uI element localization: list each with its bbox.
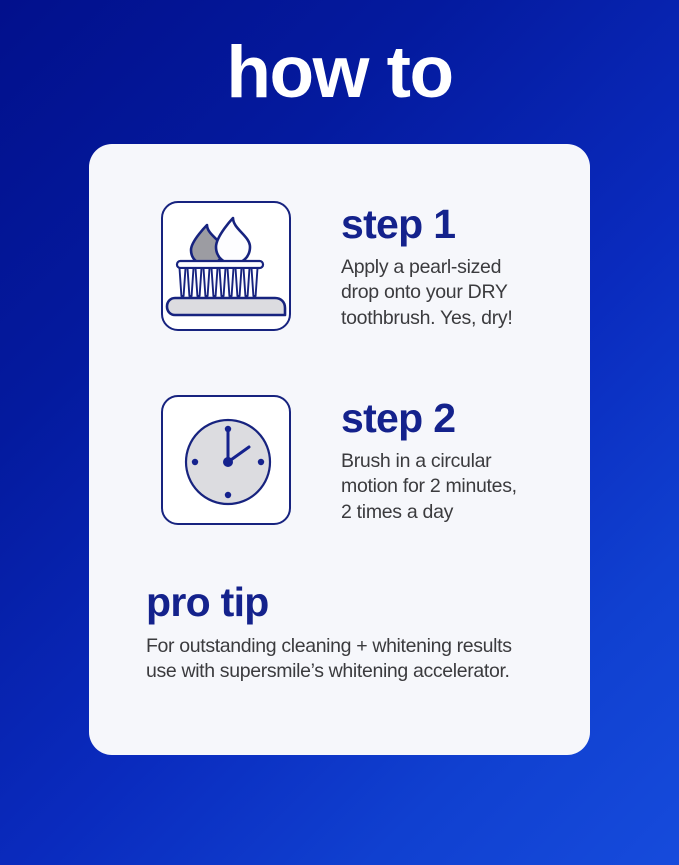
step-body: Apply a pearl-sized drop onto your DRY t… bbox=[341, 255, 513, 331]
clock-icon bbox=[161, 395, 291, 525]
pro-tip-section: pro tip For outstanding cleaning + white… bbox=[146, 581, 566, 685]
instructions-card: step 1 Apply a pearl-sized drop onto you… bbox=[89, 144, 590, 755]
pro-tip-body: For outstanding cleaning + whitening res… bbox=[146, 634, 566, 685]
step-item-1: step 1 Apply a pearl-sized drop onto you… bbox=[161, 201, 513, 331]
pro-tip-heading: pro tip bbox=[146, 581, 566, 624]
step-heading: step 1 bbox=[341, 203, 513, 246]
how-to-poster: how to bbox=[0, 0, 679, 865]
step-text-1: step 1 Apply a pearl-sized drop onto you… bbox=[341, 201, 513, 331]
step-item-2: step 2 Brush in a circular motion for 2 … bbox=[161, 395, 517, 525]
toothbrush-with-paste-icon bbox=[161, 201, 291, 331]
step-heading: step 2 bbox=[341, 397, 517, 440]
step-body: Brush in a circular motion for 2 minutes… bbox=[341, 449, 517, 525]
page-title: how to bbox=[0, 36, 679, 109]
step-text-2: step 2 Brush in a circular motion for 2 … bbox=[341, 395, 517, 525]
